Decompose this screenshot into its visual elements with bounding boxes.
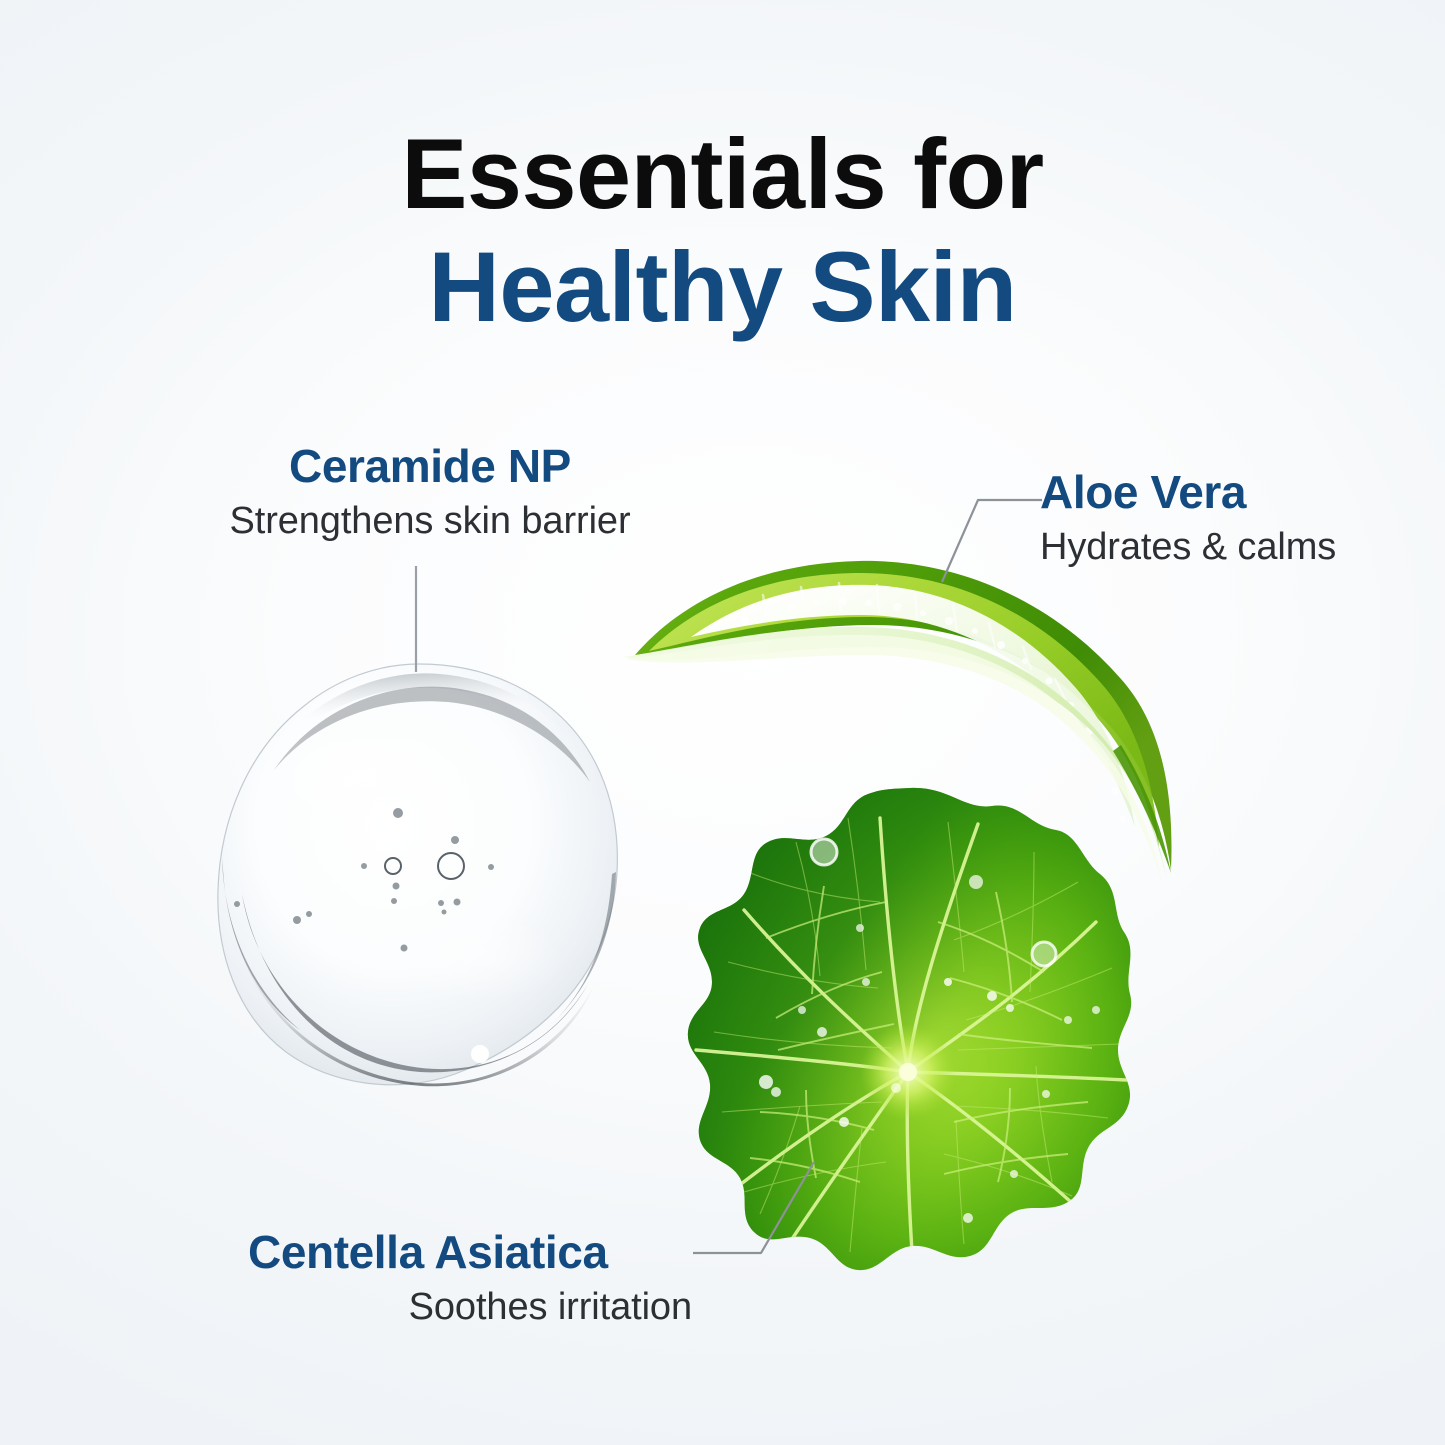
leader-line-aloe	[942, 500, 1042, 582]
infographic-canvas: Essentials for Healthy Skin	[0, 0, 1445, 1445]
leader-line-centella	[693, 1162, 814, 1253]
callout-ceramide-title: Ceramide NP	[200, 442, 660, 490]
callout-centella-title: Centella Asiatica	[248, 1228, 698, 1276]
callout-ceramide-desc: Strengthens skin barrier	[200, 500, 660, 543]
callout-centella[interactable]: Centella Asiatica Soothes irritation	[248, 1228, 698, 1329]
callout-aloe-desc: Hydrates & calms	[1040, 526, 1380, 569]
callout-aloe[interactable]: Aloe Vera Hydrates & calms	[1040, 468, 1380, 569]
callout-leader-lines	[0, 0, 1445, 1445]
callout-aloe-title: Aloe Vera	[1040, 468, 1380, 516]
callout-centella-desc: Soothes irritation	[248, 1286, 698, 1329]
callout-ceramide[interactable]: Ceramide NP Strengthens skin barrier	[200, 442, 660, 543]
